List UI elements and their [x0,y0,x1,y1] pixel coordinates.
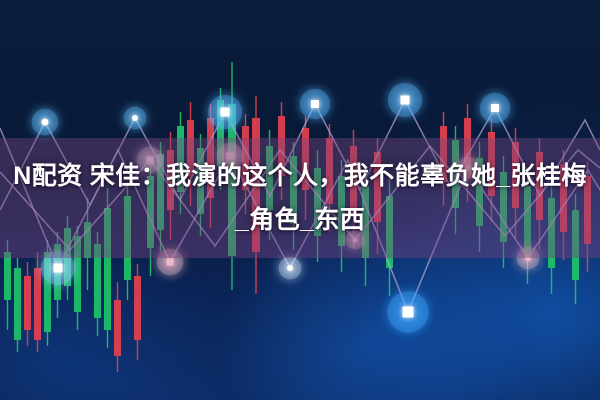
banner-image: N配资 宋佳：我演的这个人，我不能辜负她_张桂梅_角色_东西 [0,0,600,400]
page-title: N配资 宋佳：我演的这个人，我不能辜负她_张桂梅_角色_东西 [8,154,592,242]
title-container: N配资 宋佳：我演的这个人，我不能辜负她_张桂梅_角色_东西 [0,138,600,258]
